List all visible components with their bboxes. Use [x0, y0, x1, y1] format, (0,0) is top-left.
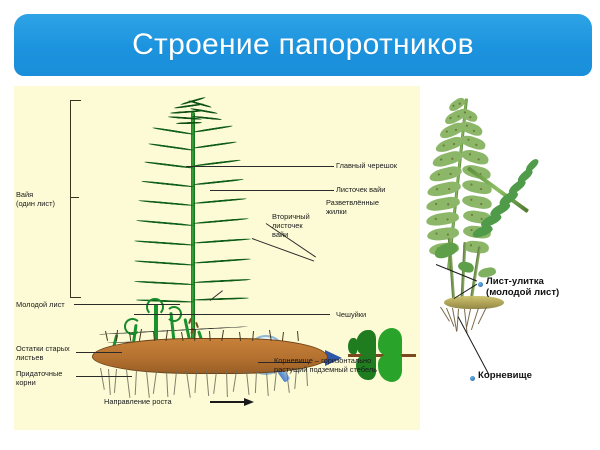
pointer-dot-rhizome [470, 376, 475, 381]
leader-line-scales [134, 314, 330, 315]
pointer-dot-snail-leaf [478, 282, 483, 287]
label-rhizome-desc: Корневище – горизонтально растущий подзе… [274, 356, 377, 374]
enlarged-leaflet [344, 326, 420, 384]
fern-crown [164, 100, 224, 126]
diagram-panel: Вайя (один лист) [14, 86, 420, 430]
vaya-bracket [70, 100, 81, 298]
label-branched-veins: Разветвлённые жилки [326, 198, 379, 216]
label-old-leaf-remains: Остатки старых листьев [16, 344, 70, 362]
label-main-petiole: Главный черешок [336, 161, 397, 170]
label-snail-leaf: Лист-улитка (молодой лист) [486, 276, 559, 298]
growth-direction-arrow-icon [210, 398, 258, 406]
vaya-bracket-tick [70, 197, 79, 198]
label-young-leaf: Молодой лист [16, 300, 65, 309]
title-banner: Строение папоротников [14, 14, 592, 76]
label-scales: Чешуйки [336, 310, 366, 319]
label-leaflet: Листочек вайи [336, 185, 385, 194]
slide-root: Строение папоротников Вайя (один лист) [0, 0, 600, 450]
leader-line-leaflet [210, 190, 334, 191]
photo-panel: Лист-улитка (молодой лист) Корневище [420, 86, 600, 430]
label-photo-rhizome: Корневище [478, 370, 532, 381]
leader-line-petiole [186, 166, 334, 167]
leader-line-young-leaf [74, 304, 180, 305]
leader-line-old-leaves [76, 352, 122, 353]
fiddlehead-coil [124, 318, 141, 335]
scale-mark [195, 322, 199, 328]
leader-line-adv-roots [76, 376, 132, 377]
label-vaya: Вайя (один лист) [16, 190, 55, 208]
fern-illustration [134, 94, 254, 362]
label-adventitious-roots: Придаточные корни [16, 369, 62, 387]
label-growth-direction: Направление роста [104, 397, 172, 406]
page-title: Строение папоротников [14, 14, 592, 76]
label-secondary-leaflet: Вторичный листочек вайи [272, 212, 310, 240]
